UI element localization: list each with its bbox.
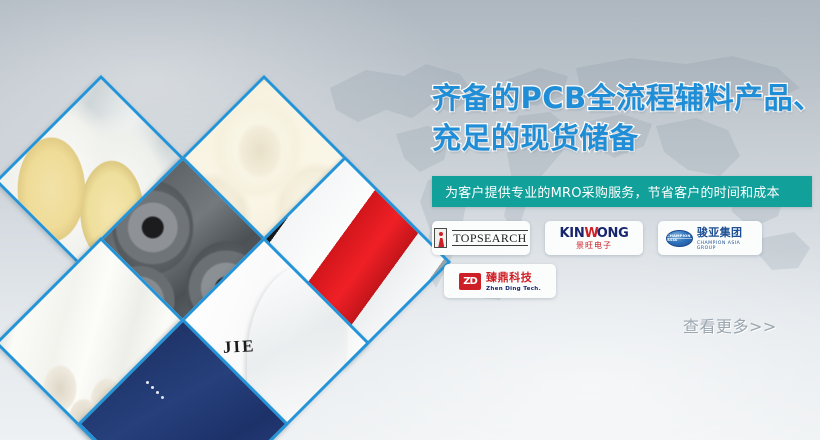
kinwong-chinese-name: 景旺电子 bbox=[560, 242, 629, 250]
partner-logo-row-2: ZD 臻鼎科技 Zhen Ding Tech. bbox=[432, 264, 820, 298]
kinwong-part-3: ONG bbox=[597, 226, 629, 241]
partner-logo-kinwong[interactable]: KINWONG 景旺电子 bbox=[545, 221, 643, 255]
tagline-text: 为客户提供专业的MRO采购服务，节省客户的时间和成本 bbox=[445, 182, 780, 201]
partner-logo-row-1: TOPSEARCH KINWONG 景旺电子 CHAMPION ASIA 骏亚集… bbox=[432, 221, 820, 255]
kinwong-part-w: W bbox=[584, 226, 596, 241]
kinwong-part-1: KIN bbox=[560, 226, 585, 241]
view-more-link[interactable]: 查看更多>> bbox=[683, 313, 777, 337]
champion-asia-english-name: CHAMPION ASIA GROUP bbox=[697, 242, 754, 251]
banner-content: 齐备的PCB全流程辅料产品、 充足的现货储备 为客户提供专业的MRO采购服务，节… bbox=[432, 78, 820, 298]
topsearch-mark-icon bbox=[434, 228, 447, 248]
kinwong-wordmark: KINWONG bbox=[560, 227, 629, 240]
headline-line-1: 齐备的PCB全流程辅料产品、 bbox=[432, 81, 820, 115]
headline-line-2: 充足的现货储备 bbox=[432, 118, 820, 158]
champion-asia-globe-icon: CHAMPION ASIA bbox=[666, 230, 693, 247]
promo-banner: 齐备的PCB全流程辅料产品、 充足的现货储备 为客户提供专业的MRO采购服务，节… bbox=[0, 0, 820, 440]
partner-logo-zhen-ding[interactable]: ZD 臻鼎科技 Zhen Ding Tech. bbox=[444, 264, 556, 298]
banner-headline: 齐备的PCB全流程辅料产品、 充足的现货储备 bbox=[432, 78, 820, 158]
partner-logo-champion-asia[interactable]: CHAMPION ASIA 骏亚集团 CHAMPION ASIA GROUP bbox=[658, 221, 762, 255]
zhen-ding-english-name: Zhen Ding Tech. bbox=[486, 287, 541, 293]
tagline-bar: 为客户提供专业的MRO采购服务，节省客户的时间和成本 bbox=[432, 176, 812, 207]
champion-asia-chinese-name: 骏亚集团 bbox=[697, 226, 743, 239]
product-collage bbox=[0, 24, 400, 440]
zhen-ding-mark-icon: ZD bbox=[459, 273, 481, 290]
zhen-ding-chinese-name: 臻鼎科技 bbox=[486, 271, 532, 284]
globe-inner-text: CHAMPION ASIA bbox=[667, 234, 692, 242]
topsearch-wordmark: TOPSEARCH bbox=[452, 230, 527, 246]
partner-logo-topsearch[interactable]: TOPSEARCH bbox=[432, 221, 530, 255]
